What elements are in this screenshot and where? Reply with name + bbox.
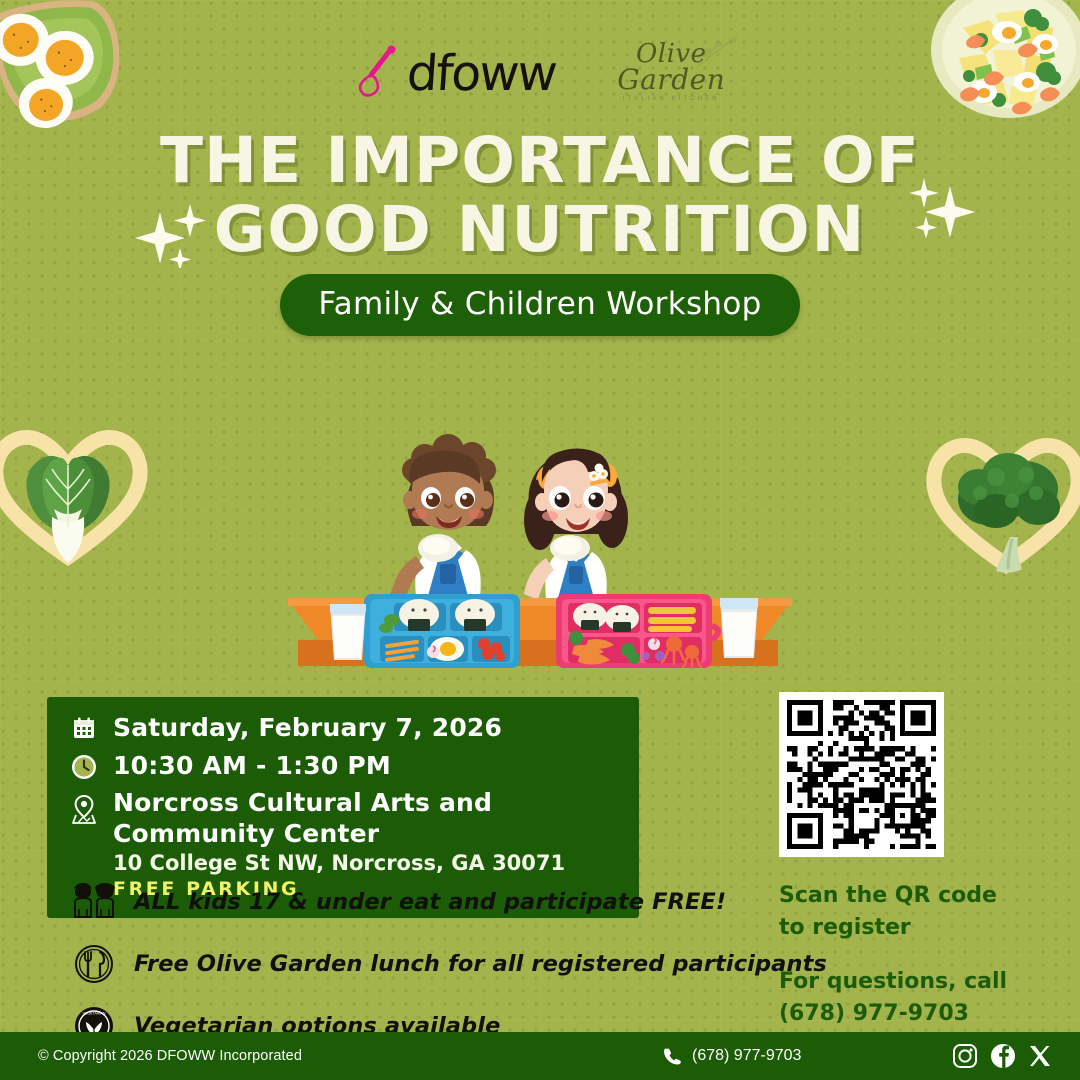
logo-row: dfoww Olive Garden ITALIAN KITCHEN: [0, 28, 1080, 118]
footer-bar: © Copyright 2026 DFOWW Incorporated (678…: [0, 1032, 1080, 1080]
clock-icon: [69, 751, 99, 780]
poster-canvas: dfoww Olive Garden ITALIAN KITCHEN THE I…: [0, 0, 1080, 1080]
family-icon: [70, 882, 118, 922]
sparkle-icon-right: [902, 168, 992, 244]
two-children-eating-lunch-illustration: [288, 358, 792, 680]
olive-branch-icon: [689, 31, 747, 75]
x-icon[interactable]: [1028, 1044, 1052, 1068]
venue-address: 10 College St NW, Norcross, GA 30071: [113, 851, 619, 875]
olive-garden-logo: Olive Garden ITALIAN KITCHEN: [617, 43, 725, 102]
copyright-text: © Copyright 2026 DFOWW Incorporated: [38, 1048, 302, 1064]
qr-code-canvas[interactable]: [787, 700, 936, 849]
scan-line-2: to register: [779, 912, 1059, 944]
list-item: ALL kids 17 & under eat and participate …: [70, 882, 690, 922]
qr-instructions: Scan the QR code to register For questio…: [779, 880, 1059, 1030]
footer-phone: (678) 977-9703: [664, 1047, 801, 1065]
olive-garden-tagline: ITALIAN KITCHEN: [617, 97, 725, 103]
event-date: Saturday, February 7, 2026: [113, 713, 502, 744]
dfoww-brush-icon: [355, 45, 401, 101]
milk-glass-left: [330, 604, 366, 660]
broccoli-in-heart-image: [926, 415, 1080, 583]
boy-character: [389, 434, 496, 603]
event-time: 10:30 AM - 1:30 PM: [113, 751, 391, 782]
milk-glass-right: [720, 598, 758, 658]
badge-container: Family & Children Workshop: [0, 274, 1080, 336]
instagram-icon[interactable]: [952, 1043, 978, 1069]
social-links: [952, 1043, 1052, 1069]
svg-text:VEGETARIAN: VEGETARIAN: [83, 1012, 106, 1016]
scan-line-1: Scan the QR code: [779, 880, 1059, 912]
venue-name: Norcross Cultural Arts and Community Cen…: [113, 788, 492, 848]
phone-icon: [664, 1047, 682, 1065]
list-item: Free Olive Garden lunch for all register…: [70, 944, 690, 984]
sparkle-icon-left: [128, 190, 224, 268]
workshop-badge: Family & Children Workshop: [280, 274, 799, 336]
blue-lunch-tray: [364, 594, 520, 668]
footer-phone-number: (678) 977-9703: [692, 1047, 801, 1065]
girl-character: [524, 448, 628, 600]
dfoww-wordmark: dfoww: [405, 49, 557, 98]
bok-choy-in-heart-image: [0, 405, 148, 575]
dfoww-logo: dfoww: [355, 45, 555, 101]
list-item-text: ALL kids 17 & under eat and participate …: [134, 889, 726, 915]
list-item-text: Free Olive Garden lunch for all register…: [134, 951, 827, 977]
qr-code[interactable]: [779, 692, 944, 857]
facebook-icon[interactable]: [990, 1043, 1016, 1069]
pink-lunch-tray: [556, 594, 718, 668]
cutlery-icon: [70, 944, 118, 984]
detail-row-time: 10:30 AM - 1:30 PM: [69, 751, 619, 782]
map-pin-icon: [69, 788, 99, 824]
questions-line-1: For questions, call: [779, 966, 1059, 998]
calendar-icon: [69, 713, 99, 740]
questions-phone: (678) 977-9703: [779, 998, 1059, 1030]
detail-row-date: Saturday, February 7, 2026: [69, 713, 619, 744]
